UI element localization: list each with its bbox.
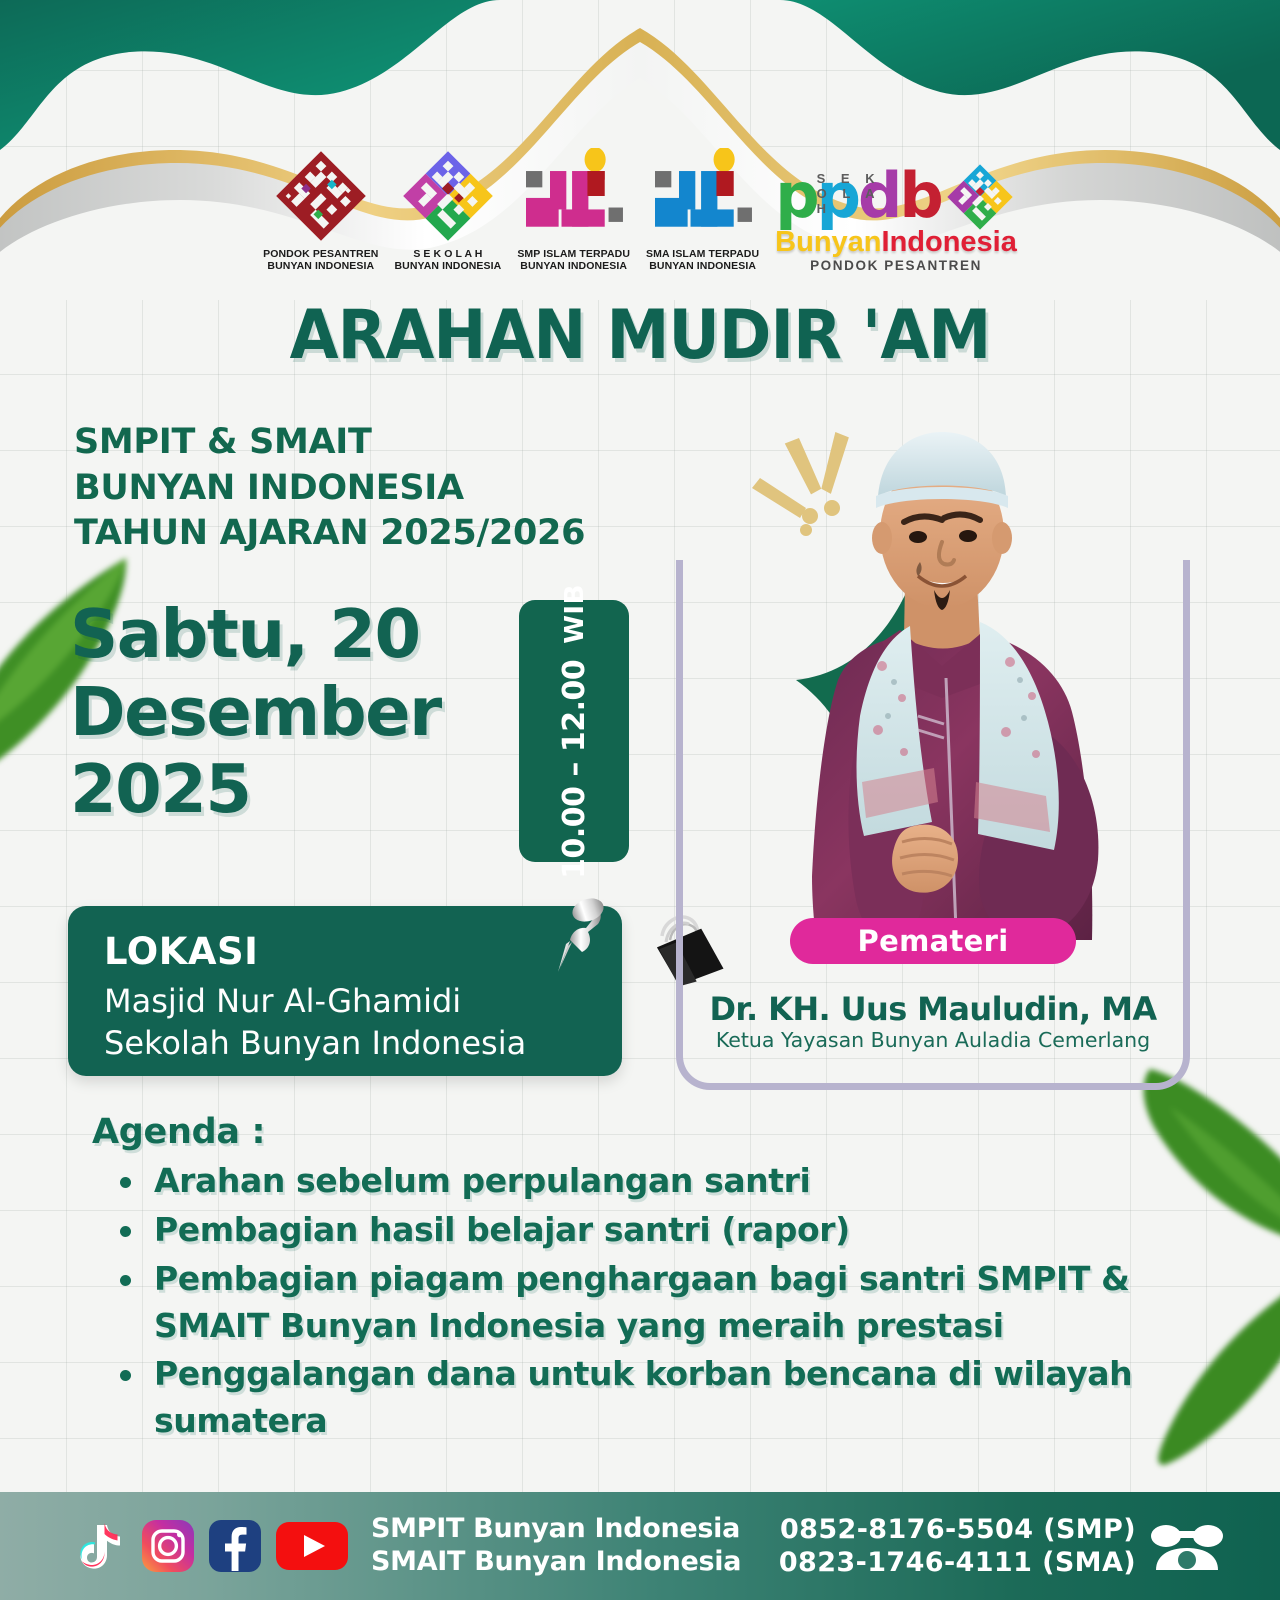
account-name-smpit: SMPIT Bunyan Indonesia (371, 1513, 741, 1546)
social-account-names: SMPIT Bunyan Indonesia SMAIT Bunyan Indo… (371, 1513, 741, 1579)
footer-bar: SMPIT Bunyan Indonesia SMAIT Bunyan Indo… (0, 1492, 1280, 1600)
phone-sma: 0823-1746-4111 (SMA) (779, 1546, 1136, 1579)
logo-ppdb-sekolah-bunyan-indonesia: ppdb S E K O L A H (775, 162, 1017, 273)
logo-row: PONDOK PESANTREN BUNYAN INDONESIA (0, 148, 1280, 273)
logo-smpit: SMP ISLAM TERPADU BUNYAN INDONESIA (517, 148, 630, 273)
school-line-2: BUNYAN INDONESIA (74, 466, 714, 512)
tiktok-icon[interactable] (74, 1519, 128, 1573)
school-year-block: SMPIT & SMAIT BUNYAN INDONESIA TAHUN AJA… (74, 420, 714, 557)
date-line-3: 2025 (70, 751, 540, 829)
speaker-title: Ketua Yayasan Bunyan Auladia Cemerlang (676, 1028, 1190, 1052)
date-line-2: Desember (70, 674, 540, 752)
logo-caption: S E K O L A H BUNYAN INDONESIA (395, 249, 502, 273)
telephone-icon (1150, 1520, 1224, 1572)
sekolah-kufic-icon (396, 148, 500, 244)
social-icon-row (74, 1519, 349, 1573)
logo-pondok-pesantren: PONDOK PESANTREN BUNYAN INDONESIA (263, 148, 378, 273)
instagram-icon[interactable] (141, 1519, 195, 1573)
ppdb-letter-b: b (899, 159, 940, 232)
logo-caption: PONDOK PESANTREN BUNYAN INDONESIA (263, 249, 378, 273)
ppdb-letter-p1: p (775, 159, 816, 232)
pushpin-icon (548, 894, 618, 985)
pondok-pesantren-kufic-icon (269, 148, 373, 244)
speaker-photo (742, 430, 1162, 965)
logo-smait: SMA ISLAM TERPADU BUNYAN INDONESIA (646, 148, 759, 273)
speaker-name: Dr. KH. Uus Mauludin, MA (676, 990, 1190, 1028)
date-line-1: Sabtu, 20 (70, 596, 540, 674)
youtube-icon[interactable] (275, 1519, 349, 1573)
agenda-item: Pembagian hasil belajar santri (rapor) (114, 1207, 1202, 1254)
account-name-smait: SMAIT Bunyan Indonesia (371, 1546, 741, 1579)
event-time-badge: 10.00 – 12.00 WIB (519, 600, 629, 862)
contact-phone-numbers: 0852-8176-5504 (SMP) 0823-1746-4111 (SMA… (779, 1513, 1136, 1580)
sma-islam-terpadu-icon (647, 148, 759, 244)
event-date: Sabtu, 20 Desember 2025 (70, 596, 540, 829)
location-line-1: Masjid Nur Al-Ghamidi (104, 982, 461, 1020)
agenda-item: Penggalangan dana untuk korban bencana d… (114, 1351, 1202, 1445)
phone-smp: 0852-8176-5504 (SMP) (779, 1513, 1136, 1546)
location-box: LOKASI Masjid Nur Al-Ghamidi Sekolah Bun… (68, 906, 622, 1076)
logo-sekolah: S E K O L A H BUNYAN INDONESIA (395, 148, 502, 273)
ppdb-sekolah-label: S E K O L A H (817, 171, 900, 216)
agenda-item: Arahan sebelum perpulangan santri (114, 1158, 1202, 1205)
ppdb-pondok-label: PONDOK PESANTREN (810, 258, 982, 273)
time-zone: WIB (559, 584, 589, 644)
school-line-3: TAHUN AJARAN 2025/2026 (74, 511, 714, 557)
smp-islam-terpadu-icon (518, 148, 630, 244)
logo-caption: SMP ISLAM TERPADU BUNYAN INDONESIA (517, 249, 630, 273)
location-label: LOKASI (104, 930, 258, 973)
page-title: ARAHAN MUDIR 'AM (45, 296, 1235, 375)
logo-caption: SMA ISLAM TERPADU BUNYAN INDONESIA (646, 249, 759, 273)
agenda-section: Agenda : Arahan sebelum perpulangan sant… (92, 1112, 1202, 1447)
time-range: 10.00 – 12.00 (557, 659, 592, 878)
agenda-item: Pembagian piagam penghargaan bagi santri… (114, 1256, 1202, 1350)
school-line-1: SMPIT & SMAIT (74, 420, 714, 466)
agenda-list: Arahan sebelum perpulangan santri Pembag… (92, 1158, 1202, 1445)
speaker-role-badge: Pemateri (790, 918, 1076, 964)
facebook-icon[interactable] (208, 1519, 262, 1573)
agenda-label: Agenda : (92, 1112, 1202, 1152)
location-line-2: Sekolah Bunyan Indonesia (104, 1024, 526, 1062)
ppdb-kufic-icon (943, 162, 1017, 232)
